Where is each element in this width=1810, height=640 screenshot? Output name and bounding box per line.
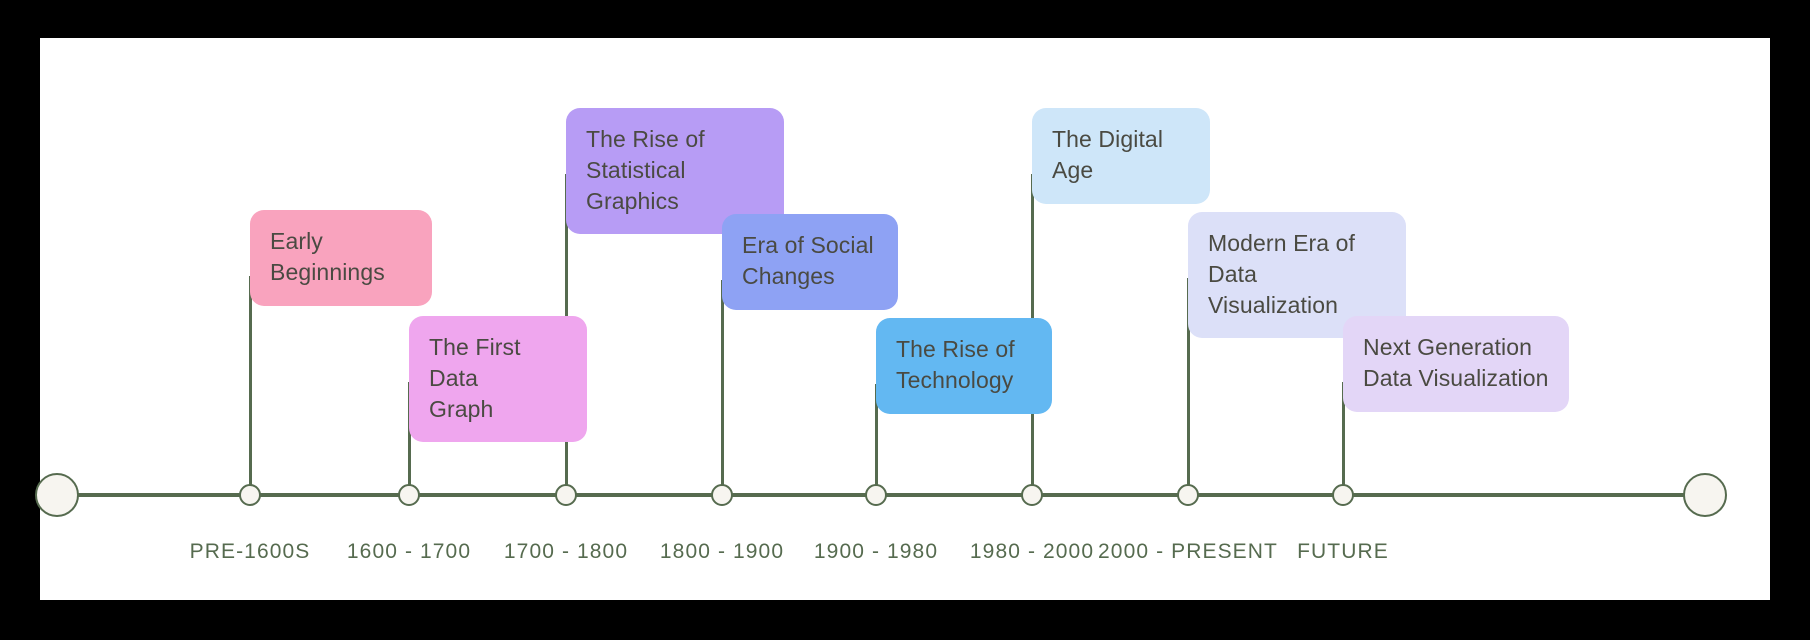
timeline-axis-line <box>57 493 1722 497</box>
screenshot-stage: Early BeginningsThe First Data GraphThe … <box>0 0 1810 640</box>
milestone-card-4[interactable]: Era of Social Changes <box>722 214 898 310</box>
timeline-canvas: Early BeginningsThe First Data GraphThe … <box>40 38 1770 600</box>
era-label-2: 1600 - 1700 <box>347 540 471 564</box>
milestone-card-5[interactable]: The Rise of Technology <box>876 318 1052 414</box>
era-label-1: PRE-1600S <box>190 540 311 564</box>
timeline-stem <box>721 280 724 494</box>
timeline-node-7[interactable] <box>1177 484 1199 506</box>
timeline-end-node <box>1683 473 1727 517</box>
timeline-node-6[interactable] <box>1021 484 1043 506</box>
milestone-card-8[interactable]: Next Generation Data Visualization <box>1343 316 1569 412</box>
timeline-node-2[interactable] <box>398 484 420 506</box>
milestone-card-1[interactable]: Early Beginnings <box>250 210 432 306</box>
era-label-4: 1800 - 1900 <box>660 540 784 564</box>
era-label-6: 1980 - 2000 <box>970 540 1094 564</box>
timeline-stem <box>249 276 252 494</box>
milestone-card-6[interactable]: The Digital Age <box>1032 108 1210 204</box>
era-label-7: 2000 - PRESENT <box>1098 540 1278 564</box>
timeline-node-4[interactable] <box>711 484 733 506</box>
timeline-node-8[interactable] <box>1332 484 1354 506</box>
era-label-5: 1900 - 1980 <box>814 540 938 564</box>
timeline-node-5[interactable] <box>865 484 887 506</box>
timeline-node-3[interactable] <box>555 484 577 506</box>
era-label-8: FUTURE <box>1297 540 1389 564</box>
timeline-start-node <box>35 473 79 517</box>
timeline-node-1[interactable] <box>239 484 261 506</box>
milestone-card-2[interactable]: The First Data Graph <box>409 316 587 442</box>
era-label-3: 1700 - 1800 <box>504 540 628 564</box>
